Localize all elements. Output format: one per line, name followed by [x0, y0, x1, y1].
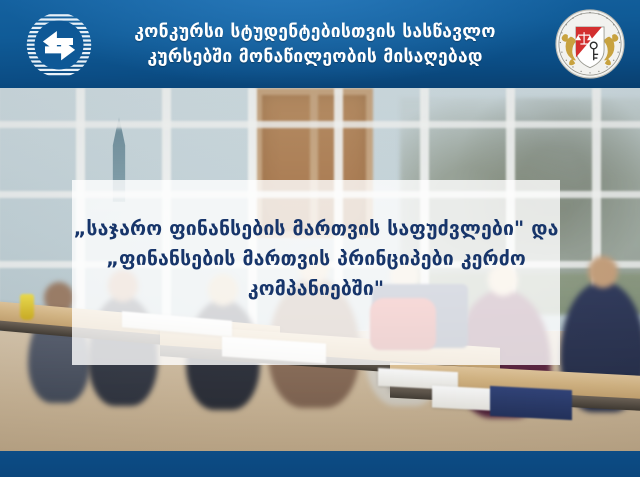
course-title-line-2: „ფინანსების მართვის პრინციპები კერძო: [72, 244, 560, 274]
header-bar: კონკურსი სტუდენტებისთვის სასწავლო კურსებ…: [0, 0, 640, 88]
header-title: კონკურსი სტუდენტებისთვის სასწავლო კურსებ…: [105, 20, 525, 70]
header-title-line-1: კონკურსი სტუდენტებისთვის სასწავლო: [105, 20, 525, 45]
footer-bar: [0, 451, 640, 477]
ministry-circular-arrows-logo-icon: [24, 10, 94, 80]
folder: [490, 386, 572, 420]
water-bottle: [20, 294, 34, 320]
ministry-of-finance-coat-of-arms-icon: [553, 7, 627, 81]
announcement-banner: კონკურსი სტუდენტებისთვის სასწავლო კურსებ…: [0, 0, 640, 477]
classroom-students-photo: „საჯარო ფინანსების მართვის საფუძვლები" დ…: [0, 88, 640, 451]
course-title-line-1: „საჯარო ფინანსების მართვის საფუძვლები" დ…: [72, 214, 560, 244]
course-title: „საჯარო ფინანსების მართვის საფუძვლები" დ…: [72, 214, 560, 304]
header-title-line-2: კურსებში მონაწილეობის მისაღებად: [105, 45, 525, 70]
course-title-line-3: კომპანიებში": [72, 274, 560, 304]
title-overlay-panel: „საჯარო ფინანსების მართვის საფუძვლები" დ…: [72, 180, 560, 365]
